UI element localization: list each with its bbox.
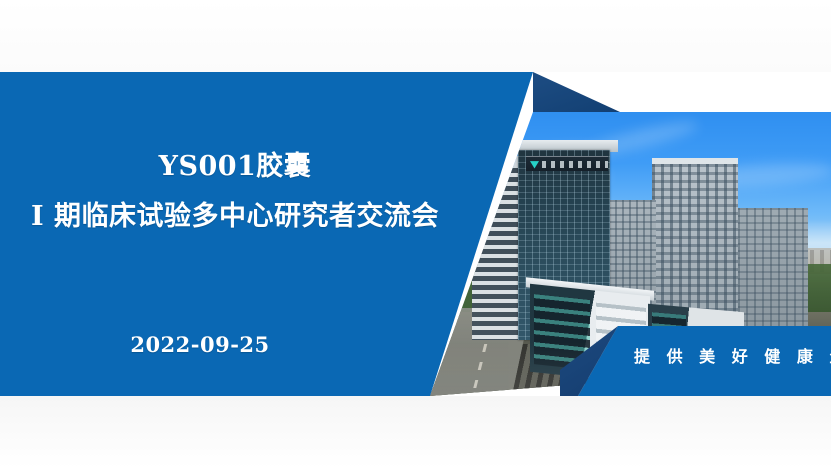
tagline-text: 提 供 美 好 健 康 生 活	[634, 343, 831, 367]
slide-top-margin	[0, 0, 831, 72]
signage-text	[542, 161, 608, 168]
far-building	[738, 208, 808, 340]
page-subtitle: I 期临床试验多中心研究者交流会	[0, 200, 470, 234]
slide-bottom-margin	[0, 396, 831, 468]
slide-date: 2022-09-25	[0, 332, 400, 357]
title-block: YS001胶囊 I 期临床试验多中心研究者交流会	[0, 150, 470, 234]
page-title: YS001胶囊	[0, 150, 470, 184]
diamond-logo-icon	[530, 160, 539, 169]
title-slide: YS001胶囊 I 期临床试验多中心研究者交流会 2022-09-25 提 供 …	[0, 0, 831, 468]
building-signage	[526, 156, 608, 171]
